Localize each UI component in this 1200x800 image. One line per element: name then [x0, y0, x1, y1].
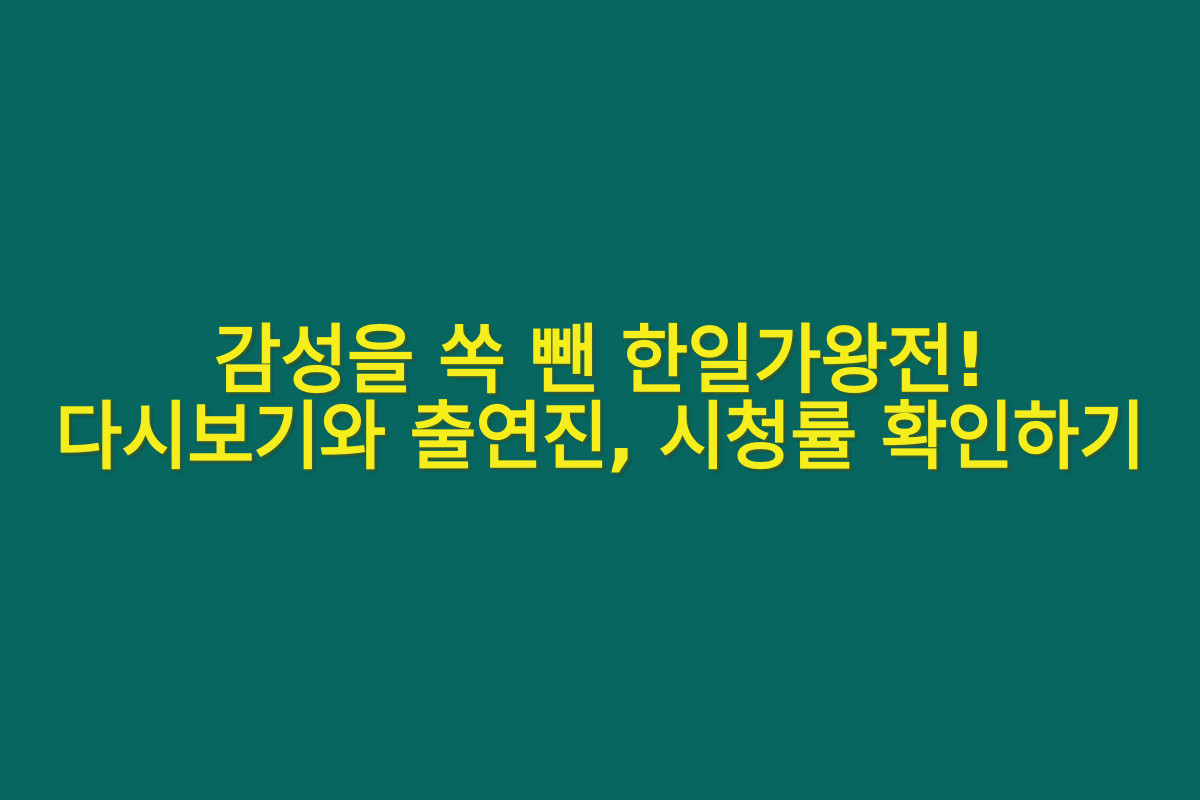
banner-canvas: 감성을 쏙 뺀 한일가왕전! 다시보기와 출연진, 시청률 확인하기 — [0, 0, 1200, 800]
headline-line-2: 다시보기와 출연진, 시청률 확인하기 — [12, 402, 1188, 473]
headline-block: 감성을 쏙 뺀 한일가왕전! 다시보기와 출연진, 시청률 확인하기 — [0, 325, 1200, 474]
headline-line-1: 감성을 쏙 뺀 한일가왕전! — [12, 325, 1188, 397]
